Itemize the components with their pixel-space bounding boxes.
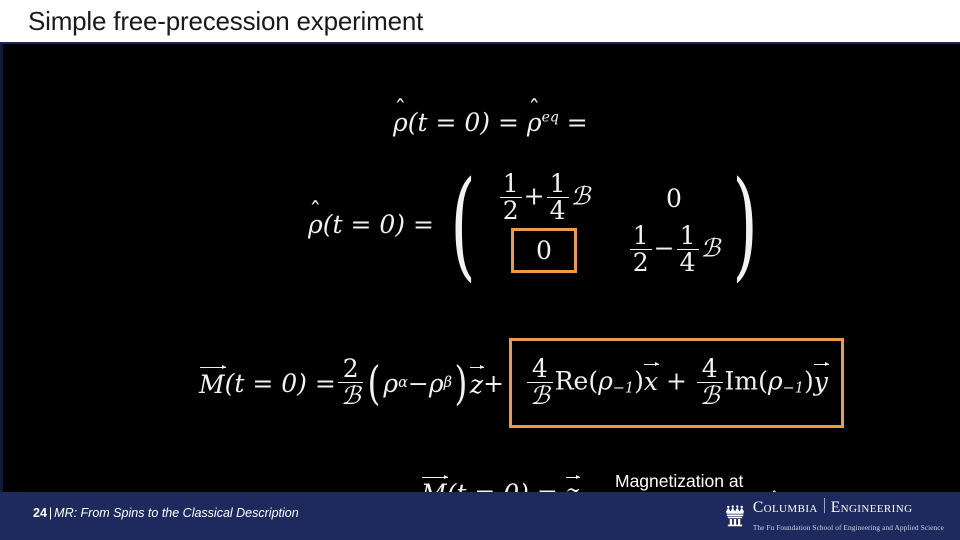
equation-density-matrix: ρ(t = 0) = ( 1 2 + 1 4 ℬ 0 0 1 [308,172,768,276]
logo-tagline: The Fu Foundation School of Engineering … [753,523,944,532]
eq3-plus-1: + [483,371,504,396]
matrix-left-paren: ( [450,177,475,271]
real-part-close: ) [634,367,644,396]
slide: Simple free-precession experiment ρ(t = … [0,0,960,540]
eq3-arg: (t = 0) = [225,371,336,396]
equation-magnetization-expansion: M(t = 0) = 2 ℬ (ρα−ρβ)z + 4 ℬ Re(ρ−1)x +… [199,338,844,428]
matrix-cell-0-0: 1 2 + 1 4 ℬ [498,172,590,224]
title-bar: Simple free-precession experiment [0,0,960,42]
matrix-cell-1-1: 1 2 − 1 4 ℬ [628,224,720,276]
vector-y: y [814,367,828,394]
vector-M: M [199,370,225,397]
page-title: Simple free-precession experiment [28,6,423,37]
matrix-grid: 1 2 + 1 4 ℬ 0 0 1 2 − 1 4 ℬ [474,172,734,276]
frac-denominator: 2 [500,197,522,224]
matrix-plus-op: + [524,182,545,211]
highlighted-transverse-terms: 4 ℬ Re(ρ−1)x + 4 ℬ Im(ρ−1)y [509,338,844,428]
eq2-lhs-rho: ρ [308,210,323,239]
subscript-minus-one-a: −1 [613,381,634,397]
equation-magnetization-result: M(t = 0) = z [421,479,579,492]
real-part-open: Re( [555,367,598,396]
boltzmann-symbol: ℬ [571,182,591,211]
annotation-text: Magnetization at equilibrium is along z [615,469,875,492]
annotation-line-1: Magnetization at [615,469,875,492]
logo-word-columbia: Columbia [753,499,818,517]
slide-content-area: ρ(t = 0) = ρeq = ρ(t = 0) = ( 1 2 + 1 4 … [0,42,960,492]
fraction-one-half-b: 1 2 [630,223,652,275]
eq4-arg: (t = 0) = [447,479,558,492]
fraction-four-over-B-a: 4 ℬ [527,356,553,408]
frac-denominator: 4 [677,249,699,276]
vector-M: M [421,479,447,492]
rho-beta: ρ [429,371,444,396]
logo-word-engineering: Engineering [831,499,913,517]
subscript-beta: β [444,376,452,391]
boltzmann-symbol: ℬ [701,234,721,263]
columbia-crown-icon [723,504,747,528]
imag-part-open: Im( [725,367,768,396]
matrix-right-paren: ) [732,177,757,271]
deck-title: MR: From Spins to the Classical Descript… [54,506,299,520]
frac-denominator: ℬ [527,382,553,409]
fraction-four-over-B-b: 4 ℬ [697,356,723,408]
eq1-rho2: ρ [527,108,542,137]
fraction-one-quarter-a: 1 4 [547,171,569,223]
eq3-open-paren: ( [368,367,381,400]
vector-z: z [470,370,483,397]
eq1-rho: ρ [393,108,408,137]
fraction-two-over-B: 2 ℬ [338,356,364,408]
columbia-engineering-logo: Columbia Engineering The Fu Foundation S… [723,500,944,532]
logo-names: Columbia Engineering [753,497,944,517]
imag-part-close: ) [804,367,814,396]
frac-numerator: 1 [547,171,569,197]
vector-x: x [644,367,658,394]
matrix-cell-1-0-highlighted: 0 [511,228,577,273]
frac-numerator: 1 [677,223,699,249]
frac-numerator: 1 [500,171,522,197]
eq3-close-paren: ) [454,367,467,400]
vector-z: z [566,479,579,492]
frac-denominator: 2 [630,249,652,276]
footer-bar: 24|MR: From Spins to the Classical Descr… [0,492,960,540]
rho-minus-one-b: ρ [768,367,783,396]
footer-caption: 24|MR: From Spins to the Classical Descr… [33,506,299,520]
frac-denominator: ℬ [338,382,364,409]
eq1-superscript: eq [542,110,559,126]
eq1-equals: = [567,108,588,137]
eq3-plus-2: + [666,367,687,396]
frac-denominator: ℬ [697,382,723,409]
eq2-lhs-arg: (t = 0) = [323,212,434,237]
logo-wordmark: Columbia Engineering The Fu Foundation S… [753,497,944,535]
rho-alpha: ρ [383,371,398,396]
eq3-minus: − [408,371,429,396]
logo-divider [824,498,825,513]
slide-number: 24 [33,506,47,520]
fraction-one-half-a: 1 2 [500,171,522,223]
frac-numerator: 4 [527,356,553,382]
frac-numerator: 4 [697,356,723,382]
frac-numerator: 2 [338,356,364,382]
eq1-arg: (t = 0) = [408,108,519,137]
frac-denominator: 4 [547,197,569,224]
subscript-alpha: α [398,376,408,391]
subscript-minus-one-b: −1 [783,381,804,397]
rho-minus-one-a: ρ [598,367,613,396]
matrix-cell-0-1: 0 [666,186,682,211]
matrix-minus-op: − [654,234,675,263]
frac-numerator: 1 [630,223,652,249]
fraction-one-quarter-b: 1 4 [677,223,699,275]
equation-density-operator-equilibrium: ρ(t = 0) = ρeq = [393,110,588,135]
